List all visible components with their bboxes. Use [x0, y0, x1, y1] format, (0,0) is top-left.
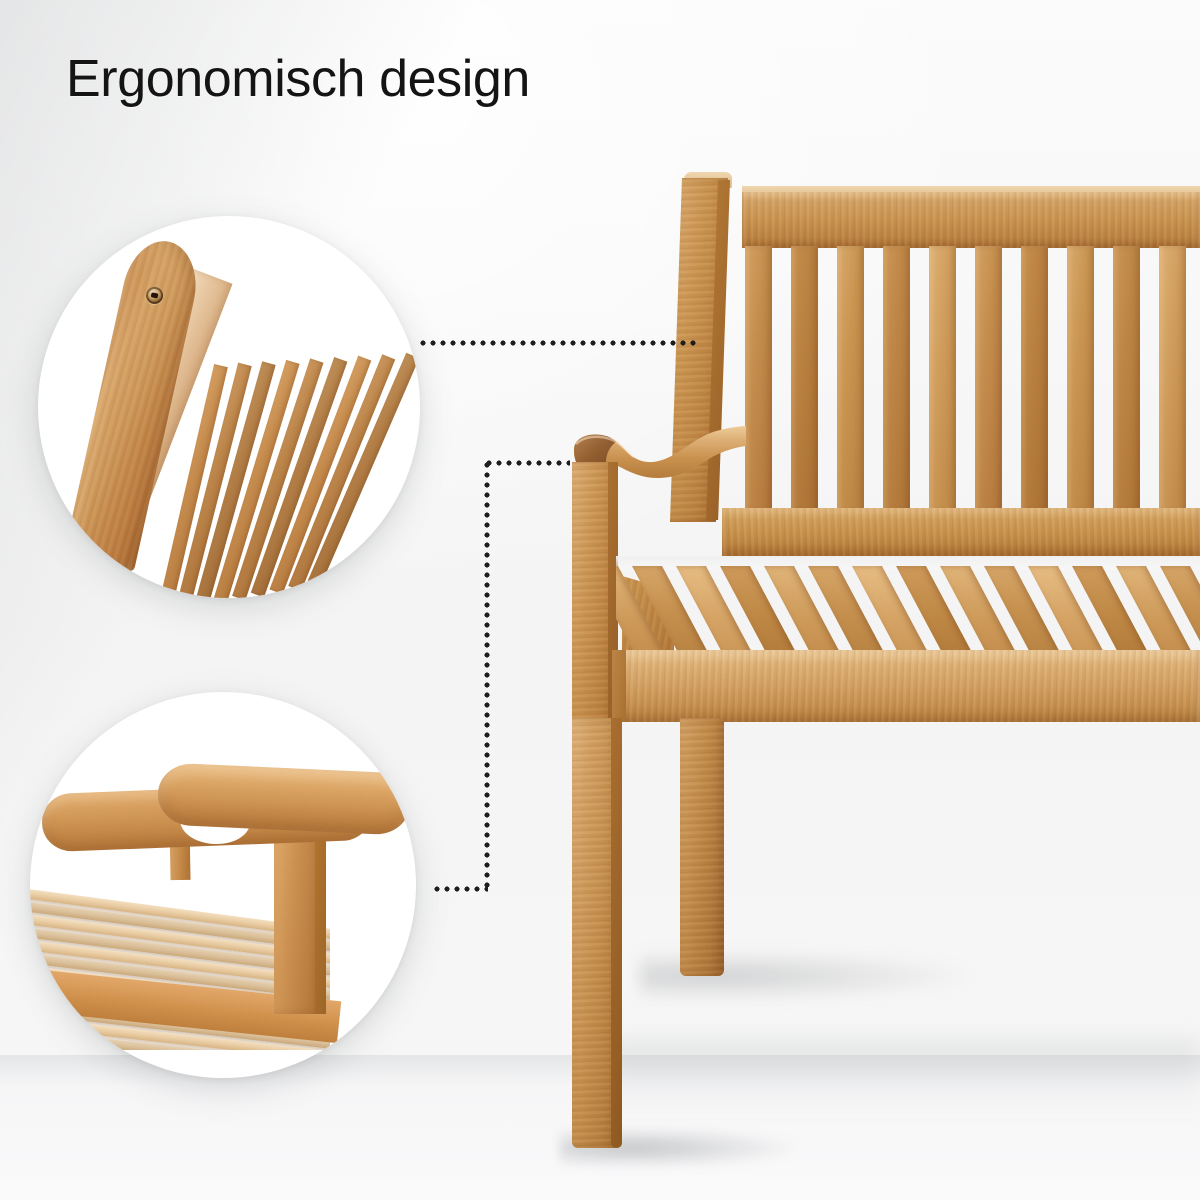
back-top-rail	[742, 192, 1200, 248]
callout-bottom-post-edge	[315, 818, 326, 1014]
callout-backrest-post-detail[interactable]	[38, 216, 420, 598]
callout-top-slats	[214, 354, 420, 598]
backrest-slat	[1159, 246, 1186, 512]
connector-bottom-lower	[432, 886, 488, 892]
backrest-slat	[975, 246, 1002, 512]
backrest-slat	[1113, 246, 1140, 512]
product-feature-image: Ergonomisch design	[0, 0, 1200, 1200]
back-bottom-rail	[722, 508, 1200, 556]
page-title: Ergonomisch design	[66, 50, 530, 108]
backrest-slat	[929, 246, 956, 512]
backrest-slat	[883, 246, 910, 512]
floor-shadow-band	[610, 1040, 1200, 1110]
backrest-slats	[742, 246, 1200, 512]
backrest-slat	[1021, 246, 1048, 512]
backrest-slat	[1067, 246, 1094, 512]
front-apron	[616, 650, 1200, 722]
callout-top-content	[38, 216, 420, 598]
connector-bottom-upper	[484, 460, 570, 466]
front-leg-edge	[611, 718, 622, 1148]
backrest-slat	[745, 246, 772, 512]
front-apron-end-cap	[612, 650, 626, 722]
callout-bottom-armrest-front	[157, 762, 412, 835]
backrest-slat	[791, 246, 818, 512]
callout-bottom-content	[30, 692, 416, 1078]
backrest-slat	[837, 246, 864, 512]
rear-leg	[680, 718, 724, 976]
connector-top	[418, 340, 700, 346]
connector-bottom-vertical	[484, 460, 490, 890]
callout-armrest-detail[interactable]	[30, 692, 416, 1078]
